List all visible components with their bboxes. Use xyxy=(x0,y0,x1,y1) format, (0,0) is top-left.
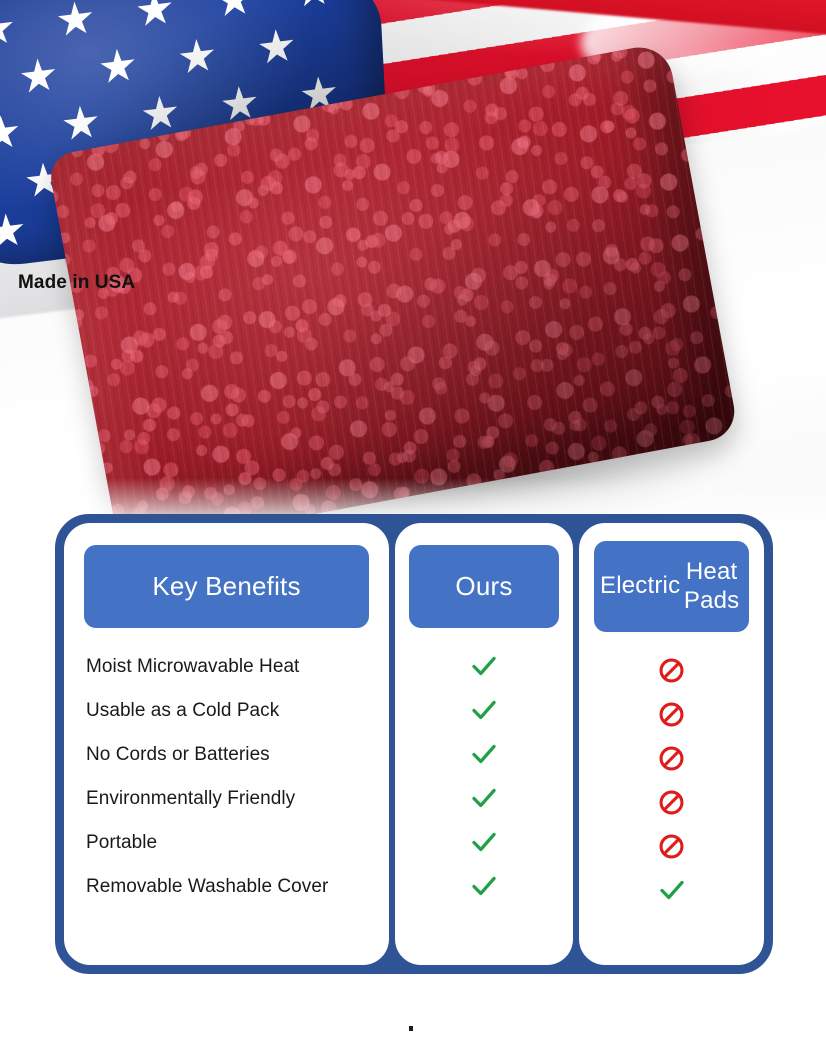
header-key-benefits: Key Benefits xyxy=(84,545,369,628)
header-electric-line1: Electric xyxy=(600,572,680,600)
prohibition-icon xyxy=(658,745,685,772)
table-row xyxy=(579,692,764,736)
flag-star xyxy=(141,94,179,134)
flag-star xyxy=(136,0,174,30)
flag-star xyxy=(295,0,333,11)
benefit-label: Moist Microwavable Heat xyxy=(86,657,299,676)
flag-star xyxy=(215,0,253,20)
prohibition-icon xyxy=(658,657,685,684)
table-row xyxy=(579,868,764,912)
comparison-table: Key Benefits Moist Microwavable HeatUsab… xyxy=(55,514,773,974)
flag-star xyxy=(0,211,25,251)
header-electric-heat-pads: Electric Heat Pads xyxy=(594,541,749,632)
benefit-label: Usable as a Cold Pack xyxy=(86,701,279,720)
flag-star xyxy=(57,0,95,40)
check-icon xyxy=(469,695,499,725)
flag-star xyxy=(99,47,137,87)
table-row xyxy=(395,644,573,688)
table-row xyxy=(579,648,764,692)
check-icon xyxy=(469,827,499,857)
check-icon xyxy=(469,871,499,901)
table-row xyxy=(395,732,573,776)
bottom-dot-mark xyxy=(409,1026,413,1031)
flag-star xyxy=(62,103,100,143)
column-electric-heat-pads: Electric Heat Pads xyxy=(579,523,764,965)
column-key-benefits: Key Benefits Moist Microwavable HeatUsab… xyxy=(64,523,389,965)
check-icon xyxy=(469,783,499,813)
table-row xyxy=(579,824,764,868)
benefit-label: No Cords or Batteries xyxy=(86,745,270,764)
table-row: Removable Washable Cover xyxy=(86,864,389,908)
header-electric-line2: Heat Pads xyxy=(680,558,743,615)
header-ours: Ours xyxy=(409,545,559,628)
flag-star xyxy=(258,27,296,67)
product-photo: Made in USA xyxy=(0,0,826,540)
check-icon xyxy=(657,875,687,905)
table-row xyxy=(395,820,573,864)
check-icon xyxy=(469,651,499,681)
table-row: Usable as a Cold Pack xyxy=(86,688,389,732)
ours-rows xyxy=(395,644,573,908)
benefit-label: Portable xyxy=(86,833,157,852)
benefit-rows: Moist Microwavable HeatUsable as a Cold … xyxy=(64,644,389,908)
flag-star xyxy=(20,56,58,96)
table-row: Moist Microwavable Heat xyxy=(86,644,389,688)
product-infographic: Made in USA Key Benefits Moist Microwava… xyxy=(0,0,826,1037)
table-row: No Cords or Batteries xyxy=(86,732,389,776)
electric-rows xyxy=(579,648,764,912)
check-icon xyxy=(469,739,499,769)
flag-star xyxy=(178,37,216,77)
benefit-label: Removable Washable Cover xyxy=(86,877,328,896)
table-row: Environmentally Friendly xyxy=(86,776,389,820)
column-ours: Ours xyxy=(395,523,573,965)
flag-star xyxy=(0,9,15,49)
prohibition-icon xyxy=(658,701,685,728)
flag-star xyxy=(0,113,20,153)
prohibition-icon xyxy=(658,833,685,860)
table-row xyxy=(395,776,573,820)
table-row xyxy=(579,780,764,824)
prohibition-icon xyxy=(658,789,685,816)
made-in-usa-label: Made in USA xyxy=(18,272,135,294)
benefit-label: Environmentally Friendly xyxy=(86,789,295,808)
table-row: Portable xyxy=(86,820,389,864)
table-row xyxy=(395,864,573,908)
table-row xyxy=(395,688,573,732)
table-row xyxy=(579,736,764,780)
